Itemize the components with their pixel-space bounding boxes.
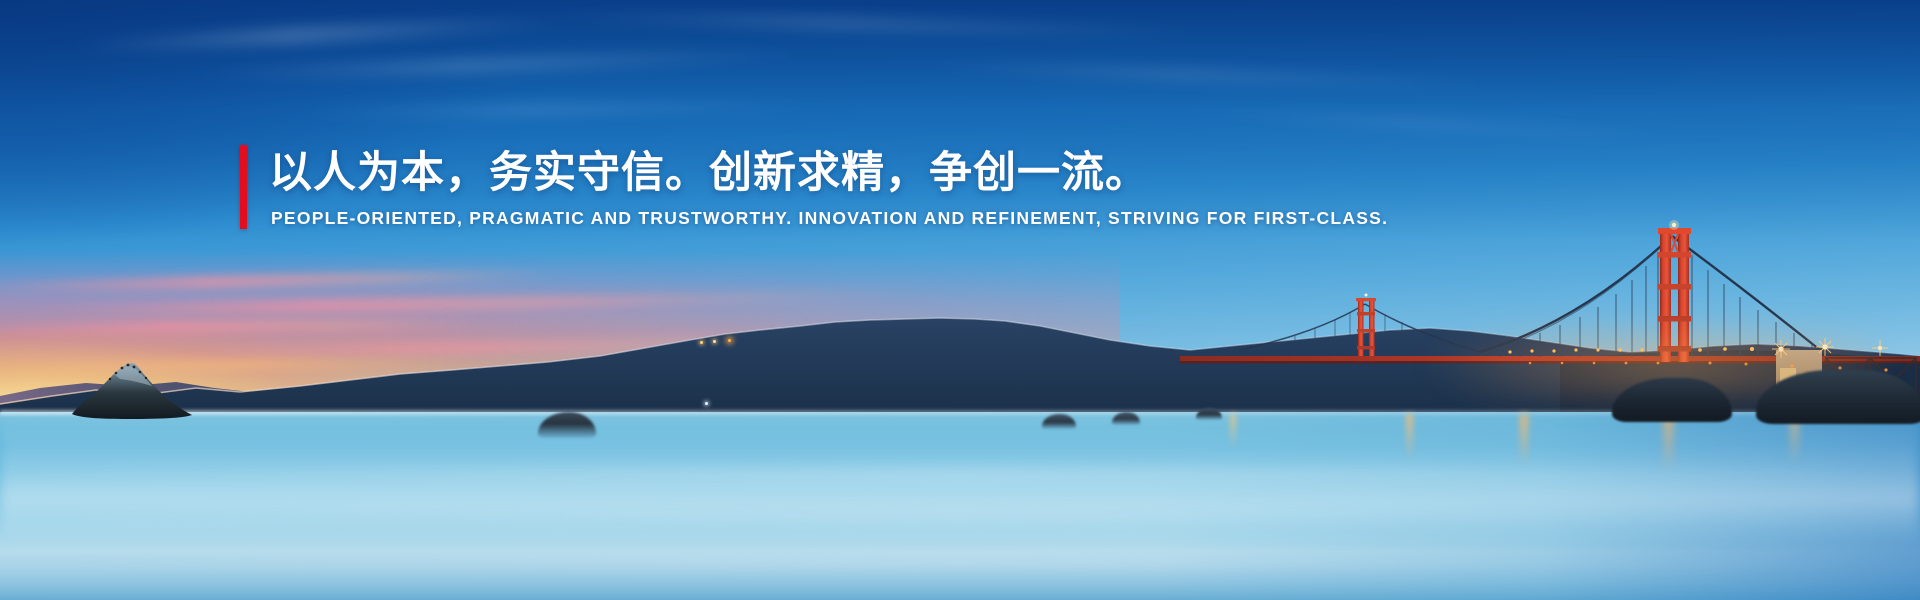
water-sheen xyxy=(0,412,1920,600)
small-rock xyxy=(1112,412,1140,425)
ridge-light xyxy=(705,402,708,405)
light-reflection xyxy=(1664,414,1673,472)
banner-subheadline: PEOPLE-ORIENTED, PRAGMATIC AND TRUSTWORT… xyxy=(271,208,1388,229)
light-reflection xyxy=(1406,414,1413,460)
accent-bar xyxy=(240,145,247,229)
ridge-light xyxy=(728,339,731,342)
water-band xyxy=(0,468,1920,480)
copy-text: 以人为本，务实守信。创新求精，争创一流。 PEOPLE-ORIENTED, PR… xyxy=(269,145,1388,229)
light-reflection xyxy=(1230,414,1236,448)
sea-rock xyxy=(64,356,199,418)
banner-headline: 以人为本，务实守信。创新求精，争创一流。 xyxy=(269,147,1388,199)
ridge-light xyxy=(700,341,703,344)
light-reflection xyxy=(1520,414,1528,466)
water-band xyxy=(0,556,1920,568)
ridge-light xyxy=(713,340,716,343)
banner-copy: 以人为本，务实守信。创新求精，争创一流。 PEOPLE-ORIENTED, PR… xyxy=(240,145,1388,229)
hero-banner: 以人为本，务实守信。创新求精，争创一流。 PEOPLE-ORIENTED, PR… xyxy=(0,0,1920,600)
water-band xyxy=(0,508,1920,520)
small-rock xyxy=(1196,408,1222,420)
